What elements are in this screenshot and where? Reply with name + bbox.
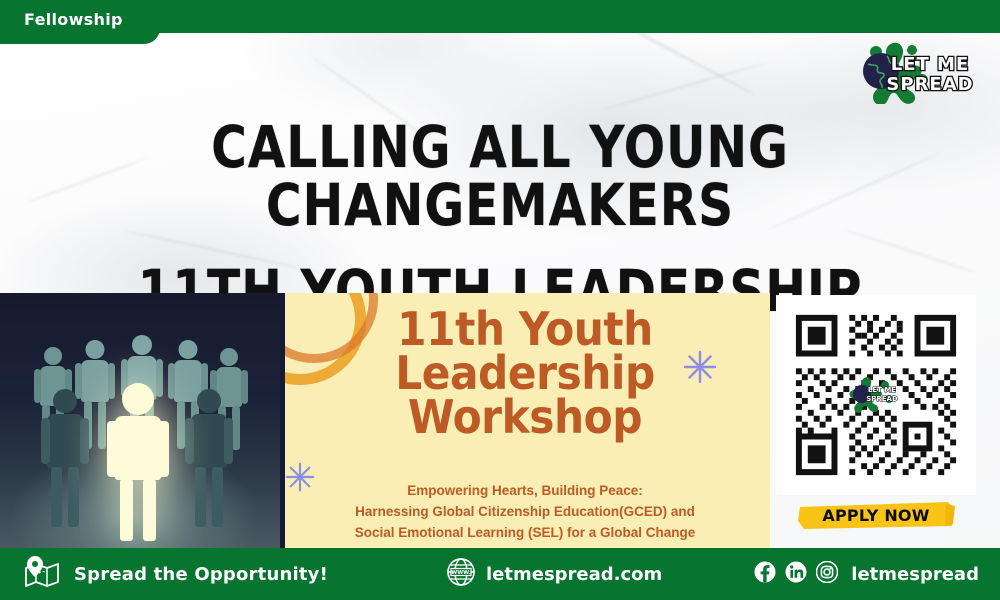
qr-panel: LET ME SPREAD APPLY NOW xyxy=(770,293,1000,548)
crowd-leader-photo xyxy=(0,293,280,548)
star-decor-icon xyxy=(284,461,316,498)
svg-text:LET ME: LET ME xyxy=(868,386,896,394)
footer-tagline: Spread the Opportunity! xyxy=(74,564,328,585)
qr-center-logo: LET ME SPREAD xyxy=(849,375,903,415)
mini-poster-subtitle: Empowering Hearts, Building Peace: Harne… xyxy=(280,481,770,544)
svg-text:SPREAD: SPREAD xyxy=(866,395,898,403)
facebook-icon[interactable] xyxy=(754,561,776,588)
apply-now-label: APPLY NOW xyxy=(796,500,956,530)
logo-text-line1: LET ME xyxy=(891,54,970,75)
footer-tagline-group: Spread the Opportunity! xyxy=(22,556,328,593)
footer-social-group: letmespread xyxy=(754,561,979,588)
leader-figure xyxy=(107,383,169,543)
footer-social-handle: letmespread xyxy=(851,564,979,585)
fellowship-tab-label: Fellowship xyxy=(24,10,123,29)
instagram-icon[interactable] xyxy=(816,561,838,588)
fellowship-promo-poster: Fellowship LET ME SPREAD CA xyxy=(0,0,1000,600)
subtitle-line1: Empowering Hearts, Building Peace: xyxy=(280,481,770,502)
poster-left-edge xyxy=(280,293,285,548)
footer-website-group[interactable]: WWW. letmespread.com xyxy=(446,557,662,592)
footer-bar: Spread the Opportunity! WWW. letmespread… xyxy=(0,548,1000,600)
mini-title-line3: Workshop xyxy=(300,395,751,439)
headline-primary: CALLING ALL YOUNG CHANGEMAKERS xyxy=(80,118,920,234)
www-globe-icon: WWW. xyxy=(446,557,476,592)
linkedin-icon[interactable] xyxy=(785,561,807,588)
brand-logo[interactable]: LET ME SPREAD xyxy=(854,38,984,104)
marble-vein xyxy=(603,62,767,111)
crowd-figure xyxy=(186,389,232,529)
subtitle-line3: Social Emotional Learning (SEL) for a Gl… xyxy=(280,523,770,544)
workshop-mini-poster: 11th Youth Leadership Workshop Empowerin… xyxy=(280,293,770,548)
svg-text:WWW.: WWW. xyxy=(451,570,470,576)
apply-now-button[interactable]: APPLY NOW xyxy=(796,500,956,530)
media-row: 11th Youth Leadership Workshop Empowerin… xyxy=(0,293,1000,548)
subtitle-line2: Harnessing Global Citizenship Education(… xyxy=(280,502,770,523)
crowd-figure xyxy=(42,389,88,529)
qr-card: LET ME SPREAD xyxy=(776,295,976,495)
mini-title-line1: 11th Youth xyxy=(300,307,751,351)
star-decor-icon xyxy=(682,349,718,390)
logo-text-line2: SPREAD xyxy=(886,74,973,95)
map-pin-icon xyxy=(22,556,62,593)
footer-website: letmespread.com xyxy=(486,564,662,585)
